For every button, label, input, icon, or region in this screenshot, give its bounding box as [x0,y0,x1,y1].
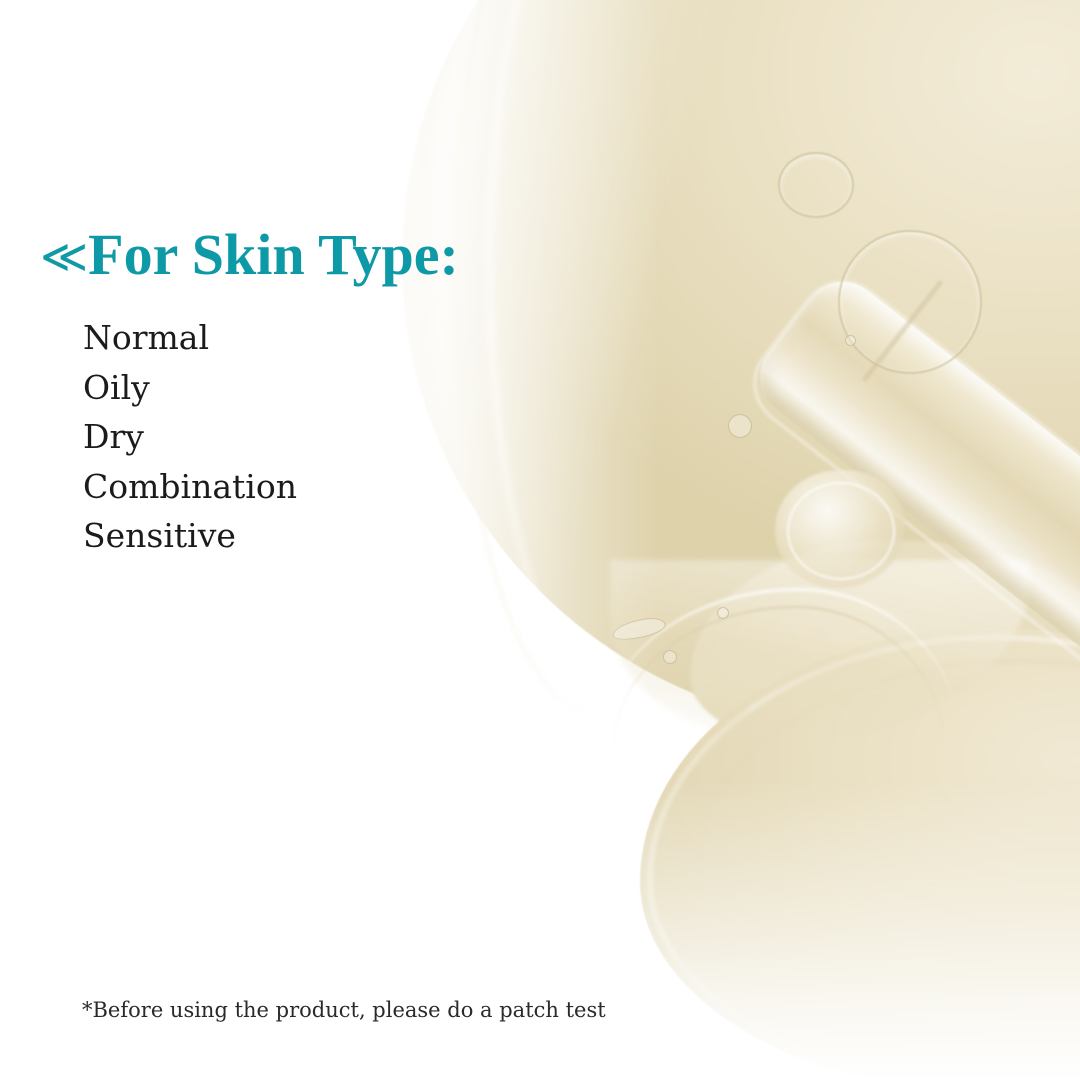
list-item: Oily [83,363,297,413]
double-chevron-left-icon: ≪ [40,233,86,279]
list-item: Dry [83,412,297,462]
patch-test-disclaimer: *Before using the product, please do a p… [82,998,606,1022]
list-item: Normal [83,313,297,363]
skin-type-infographic: ≪ For Skin Type: Normal Oily Dry Combina… [0,0,1080,1080]
content-layer: ≪ For Skin Type: Normal Oily Dry Combina… [0,0,1080,1080]
page-title-text: For Skin Type: [88,226,459,284]
list-item: Sensitive [83,511,297,561]
skin-type-list: Normal Oily Dry Combination Sensitive [83,313,297,561]
list-item: Combination [83,462,297,512]
page-title: ≪ For Skin Type: [40,226,459,284]
